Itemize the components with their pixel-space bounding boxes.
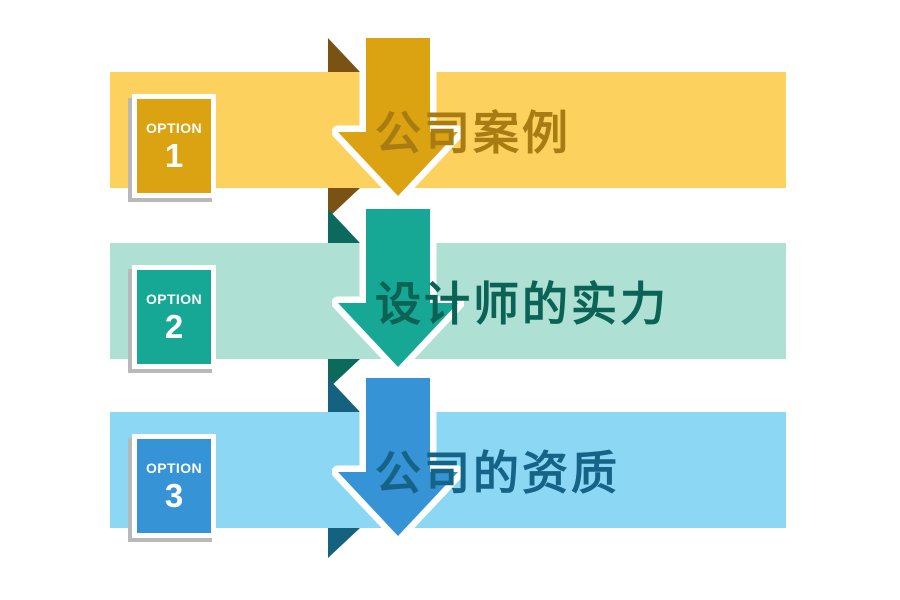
option-card-label-2: OPTION	[146, 292, 202, 306]
option-card-2[interactable]: OPTION2	[128, 265, 220, 375]
option-card-fill-2: OPTION2	[137, 270, 211, 364]
option-card-fill-3: OPTION3	[137, 439, 211, 533]
option-card-number-1: 1	[165, 139, 183, 172]
option-card-label-3: OPTION	[146, 461, 202, 475]
option-card-number-3: 3	[165, 479, 183, 512]
option-card-1[interactable]: OPTION1	[128, 94, 220, 204]
option-card-number-2: 2	[165, 310, 183, 343]
option-card-3[interactable]: OPTION3	[128, 434, 220, 544]
option-card-fill-1: OPTION1	[137, 99, 211, 193]
option-card-label-1: OPTION	[146, 121, 202, 135]
option-heading-3: 公司的资质	[375, 412, 620, 528]
slide-canvas: 公司案例OPTION1设计师的实力OPTION2公司的资质OPTION3	[0, 0, 900, 600]
option-heading-1: 公司案例	[375, 72, 571, 188]
option-heading-2: 设计师的实力	[375, 243, 669, 359]
